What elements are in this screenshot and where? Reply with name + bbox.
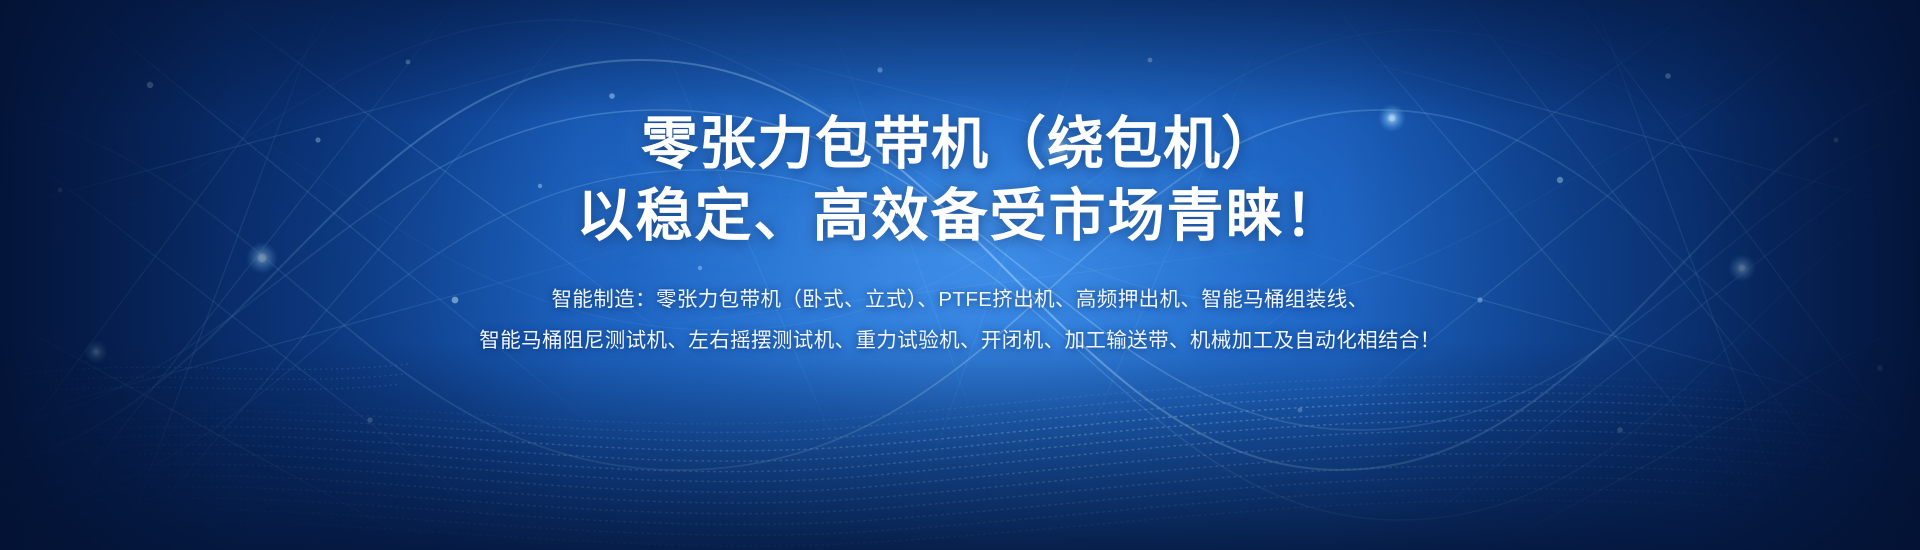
banner-headline: 零张力包带机（绕包机） 以稳定、高效备受市场青睐！ (577, 108, 1344, 253)
headline-line-2: 以稳定、高效备受市场青睐！ (577, 180, 1344, 252)
banner-description: 智能制造：零张力包带机（卧式、立式）、PTFE挤出机、高频押出机、智能马桶组装线… (479, 279, 1440, 361)
banner-content: 零张力包带机（绕包机） 以稳定、高效备受市场青睐！ 智能制造：零张力包带机（卧式… (0, 0, 1920, 550)
hero-banner: 零张力包带机（绕包机） 以稳定、高效备受市场青睐！ 智能制造：零张力包带机（卧式… (0, 0, 1920, 550)
description-line-2: 智能马桶阻尼测试机、左右摇摆测试机、重力试验机、开闭机、加工输送带、机械加工及自… (479, 320, 1440, 361)
headline-line-1: 零张力包带机（绕包机） (577, 108, 1344, 180)
description-line-1: 智能制造：零张力包带机（卧式、立式）、PTFE挤出机、高频押出机、智能马桶组装线… (479, 279, 1440, 320)
